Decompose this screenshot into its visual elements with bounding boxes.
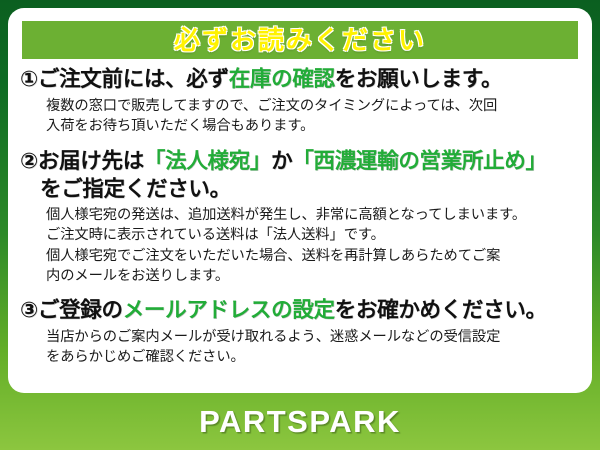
brand-logo-text: PARTSPARK: [199, 406, 401, 437]
notice-item-3: ③ご登録のメールアドレスの設定をお確かめください。 当店からのご案内メールが受け…: [20, 297, 582, 367]
notice-item-2-subline-4: 内のメールをお送りします。: [46, 266, 582, 286]
notice-item-2: ②お届け先は「法人様宛」か「西濃運輸の営業所止め」 をご指定ください。 個人様宅…: [20, 148, 582, 286]
notice-item-2-highlight-1: 「法人様宛」: [144, 149, 271, 173]
notice-item-2-subline-1: 個人様宅宛の発送は、追加送料が発生し、非常に高額となってしまいます。: [46, 205, 582, 225]
notice-banner-image: 必ずお読みください ①ご注文前には、必ず在庫の確認をお願いします。 複数の窓口で…: [0, 0, 600, 450]
notice-item-1-heading: ①ご注文前には、必ず在庫の確認をお願いします。: [20, 66, 582, 94]
notice-item-1-text-a: ご注文前には、必ず: [38, 67, 229, 91]
notice-item-1: ①ご注文前には、必ず在庫の確認をお願いします。 複数の窓口で販売してますので、ご…: [20, 66, 582, 136]
notice-list: ①ご注文前には、必ず在庫の確認をお願いします。 複数の窓口で販売してますので、ご…: [8, 66, 592, 367]
notice-item-2-subline-3: 個人様宅宛でご注文をいただいた場合、送料を再計算しあらためてご案: [46, 246, 582, 266]
notice-item-2-subtext: 個人様宅宛の発送は、追加送料が発生し、非常に高額となってしまいます。 ご注文時に…: [20, 205, 582, 286]
notice-item-2-subline-2: ご注文時に表示されている送料は「法人送料」です。: [46, 225, 582, 245]
notice-item-2-text-b: か: [271, 149, 292, 173]
notice-item-3-subtext: 当店からのご案内メールが受け取れるよう、迷惑メールなどの受信設定 をあらかじめご…: [20, 327, 582, 368]
notice-item-3-highlight: メールアドレスの設定: [123, 298, 335, 322]
notice-item-1-subline-2: 入荷をお待ち頂いただく場合もあります。: [46, 116, 582, 136]
notice-item-1-number: ①: [20, 67, 38, 91]
notice-item-3-number: ③: [20, 298, 38, 322]
notice-item-1-text-b: をお願いします。: [335, 67, 502, 91]
notice-item-3-subline-2: をあらかじめご確認ください。: [46, 347, 582, 367]
notice-item-3-subline-1: 当店からのご案内メールが受け取れるよう、迷惑メールなどの受信設定: [46, 327, 582, 347]
notice-item-1-subline-1: 複数の窓口で販売してますので、ご注文のタイミングによっては、次回: [46, 96, 582, 116]
notice-item-1-highlight: 在庫の確認: [229, 67, 335, 91]
notice-item-2-number: ②: [20, 149, 38, 173]
notice-item-3-heading: ③ご登録のメールアドレスの設定をお確かめください。: [20, 297, 582, 325]
notice-item-3-text-a: ご登録の: [38, 298, 123, 322]
notice-card: 必ずお読みください ①ご注文前には、必ず在庫の確認をお願いします。 複数の窓口で…: [8, 8, 592, 393]
page-title: 必ずお読みください: [174, 27, 426, 53]
notice-item-2-text-a: お届け先は: [38, 149, 144, 173]
notice-item-3-text-b: をお確かめください。: [335, 298, 547, 322]
notice-item-1-subtext: 複数の窓口で販売してますので、ご注文のタイミングによっては、次回 入荷をお待ち頂…: [20, 96, 582, 137]
footer-bar: PARTSPARK: [0, 393, 600, 450]
header-banner: 必ずお読みください: [22, 21, 578, 59]
notice-item-2-heading: ②お届け先は「法人様宛」か「西濃運輸の営業所止め」 をご指定ください。: [20, 148, 582, 203]
notice-item-2-highlight-2: 「西濃運輸の営業所止め」: [292, 149, 546, 173]
notice-item-2-heading-continuation: をご指定ください。: [20, 176, 582, 204]
